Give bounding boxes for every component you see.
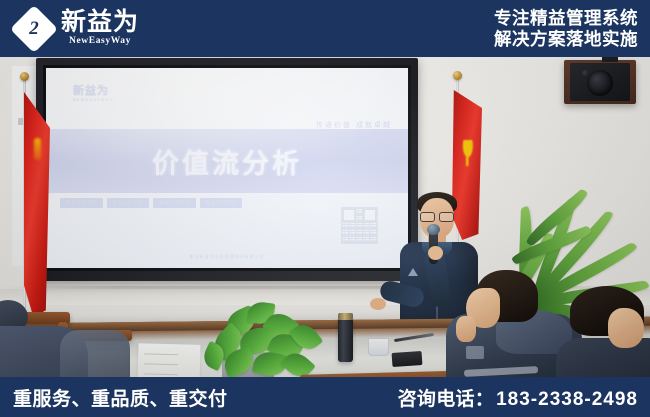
projection-screen: 新益为 NEWEASYWAY 传递价值 成就卓越 价值流分析 精益管理咨询 精益… <box>36 58 418 281</box>
national-flag-star <box>34 138 41 160</box>
national-flag <box>24 92 50 317</box>
speaker-tweeter <box>582 70 589 77</box>
bottom-banner: 重服务、重品质、重交付 咨询电话： 183-2338-2498 <box>0 377 650 417</box>
slide-logo-en: NEWEASYWAY <box>73 99 113 102</box>
contact-block: 咨询电话： 183-2338-2498 <box>398 384 650 411</box>
mobile-phone <box>392 351 423 367</box>
slide-title: 价值流分析 <box>46 142 408 181</box>
brand-name-cn: 新益为 <box>61 10 139 35</box>
national-flag-finial <box>20 72 29 81</box>
party-flag-finial <box>453 71 462 80</box>
table-plant <box>196 300 336 386</box>
screenshot-root: 新益为 NEWEASYWAY 传递价值 成就卓越 价值流分析 精益管理咨询 精益… <box>0 0 650 417</box>
top-banner: 2 新益为 NewEasyWay 专注精益管理系统 解决方案落地实施 <box>0 0 650 57</box>
slide-tab: 精益信息系统 <box>153 198 196 208</box>
projection-screen-inner: 新益为 NEWEASYWAY 传递价值 成就卓越 价值流分析 精益管理咨询 精益… <box>43 65 411 271</box>
drinking-cup <box>368 338 389 356</box>
qr-code-icon <box>341 207 378 244</box>
slide-tab-row: 精益管理咨询 精益人才培养 精益信息系统 精益研究中心 <box>60 198 242 208</box>
glasses-icon <box>420 212 454 220</box>
brand-lockup: 2 新益为 NewEasyWay <box>0 9 139 49</box>
slide-footer-text: 重庆新益为企业管理顾问有限公司 <box>46 254 408 260</box>
logo-glyph: 2 <box>24 20 44 38</box>
slogan-line-2: 解决方案落地实施 <box>494 29 638 50</box>
brand-name-en: NewEasyWay <box>61 37 139 47</box>
phone-number[interactable]: 183-2338-2498 <box>496 389 638 411</box>
slide-logo-cn: 新益为 <box>73 85 109 97</box>
microphone-head <box>427 224 440 235</box>
service-promise-text: 重服务、重品质、重交付 <box>0 384 228 411</box>
slide-tab: 精益人才培养 <box>107 198 150 208</box>
meeting-room-photo: 新益为 NEWEASYWAY 传递价值 成就卓越 价值流分析 精益管理咨询 精益… <box>0 0 650 417</box>
slide-tab: 精益研究中心 <box>200 198 243 208</box>
header-slogan: 专注精益管理系统 解决方案落地实施 <box>494 8 650 49</box>
presenter-left-hand <box>370 298 386 310</box>
presenter-right-hand <box>428 246 443 260</box>
brand-text: 新益为 NewEasyWay <box>61 10 139 47</box>
thermos-bottle-cap <box>338 313 353 320</box>
phone-label: 咨询电话： <box>398 384 495 411</box>
attendee-face <box>608 308 644 348</box>
slogan-line-1: 专注精益管理系统 <box>494 8 638 29</box>
slide-logo: 新益为 NEWEASYWAY <box>73 86 113 102</box>
presentation-slide: 新益为 NEWEASYWAY 传递价值 成就卓越 价值流分析 精益管理咨询 精益… <box>46 68 408 268</box>
slide-tab: 精益管理咨询 <box>60 198 103 208</box>
diamond-swirl-logo-icon: 2 <box>14 9 54 49</box>
attendee-hand <box>456 316 476 342</box>
attendee-badge <box>466 346 484 359</box>
thermos-bottle <box>338 318 353 362</box>
